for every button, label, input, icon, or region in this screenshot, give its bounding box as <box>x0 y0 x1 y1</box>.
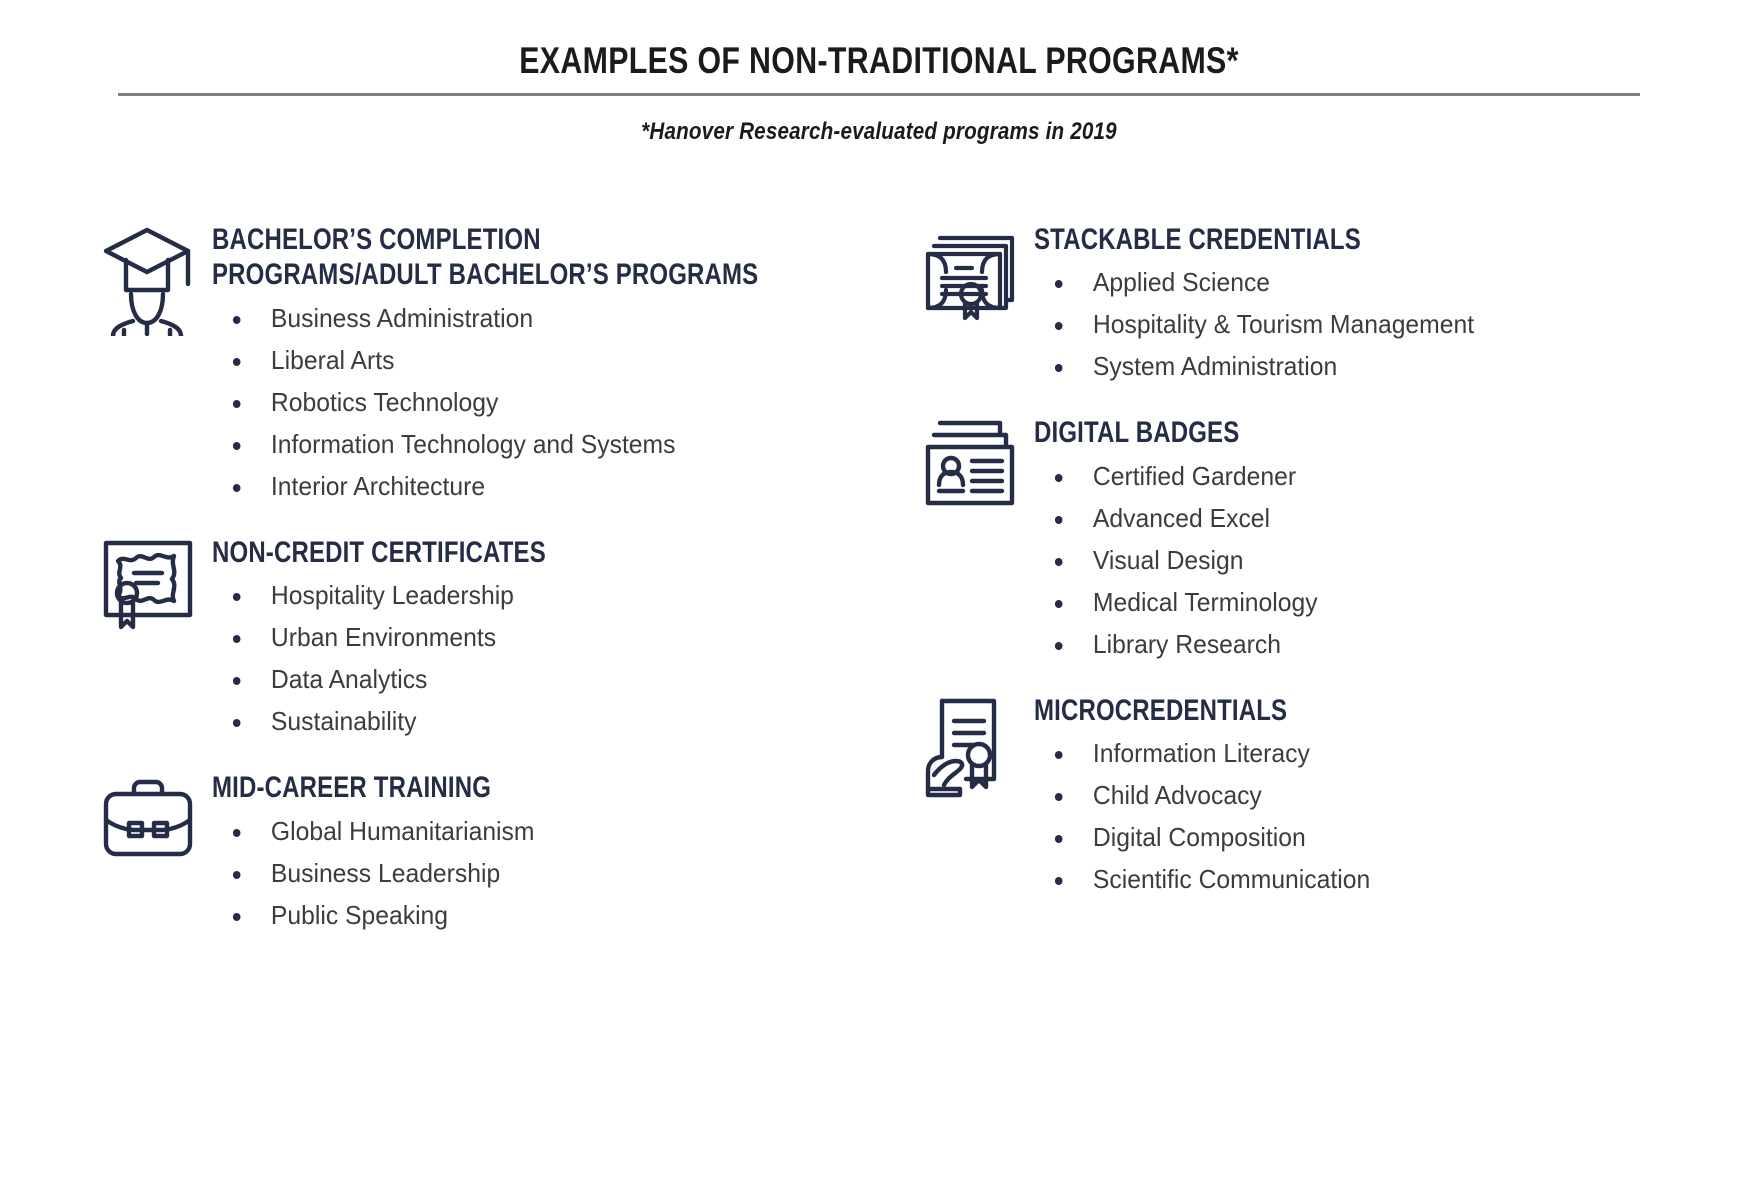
list-item: Applied Science <box>1034 261 1726 303</box>
section-body: MICROCREDENTIALS Information Literacy Ch… <box>1034 693 1762 900</box>
id-badge-icon <box>922 415 1034 509</box>
section-mid-career-training: MID-CAREER TRAINING Global Humanitariani… <box>100 770 860 935</box>
section-heading-line1: BACHELOR’S COMPLETION <box>212 222 758 257</box>
section-digital-badges: DIGITAL BADGES Certified Gardener Advanc… <box>922 415 1762 664</box>
program-list: Information Literacy Child Advocacy Digi… <box>1034 732 1762 900</box>
list-item: Certified Gardener <box>1034 455 1726 497</box>
section-heading: STACKABLE CREDENTIALS <box>1034 222 1616 257</box>
section-heading-line1: DIGITAL BADGES <box>1034 415 1616 450</box>
section-heading-line1: STACKABLE CREDENTIALS <box>1034 222 1616 257</box>
graduate-cap-icon <box>100 222 212 336</box>
infographic-page: EXAMPLES OF NON-TRADITIONAL PROGRAMS* *H… <box>0 0 1762 1180</box>
page-header: EXAMPLES OF NON-TRADITIONAL PROGRAMS* *H… <box>118 40 1640 146</box>
list-item: Information Literacy <box>1034 732 1726 774</box>
section-body: NON-CREDIT CERTIFICATES Hospitality Lead… <box>212 535 860 742</box>
section-heading: MID-CAREER TRAINING <box>212 770 730 805</box>
list-item: Library Research <box>1034 623 1726 665</box>
list-item: Scientific Communication <box>1034 858 1726 900</box>
left-column: BACHELOR’S COMPLETION PROGRAMS/ADULT BAC… <box>0 222 860 936</box>
page-subtitle: *Hanover Research-evaluated programs in … <box>225 118 1534 146</box>
list-item: Advanced Excel <box>1034 497 1726 539</box>
stacked-certificates-icon <box>922 222 1034 324</box>
section-heading: MICROCREDENTIALS <box>1034 693 1616 728</box>
list-item: Digital Composition <box>1034 816 1726 858</box>
list-item: Child Advocacy <box>1034 774 1726 816</box>
list-item: Business Administration <box>212 297 861 339</box>
list-item: Liberal Arts <box>212 339 861 381</box>
section-heading: NON-CREDIT CERTIFICATES <box>212 535 730 570</box>
framed-certificate-icon <box>100 535 212 633</box>
list-item: Interior Architecture <box>212 465 861 507</box>
list-item: Hospitality Leadership <box>212 574 828 616</box>
page-title: EXAMPLES OF NON-TRADITIONAL PROGRAMS* <box>255 40 1503 81</box>
list-item: Robotics Technology <box>212 381 861 423</box>
briefcase-icon <box>100 770 212 858</box>
list-item: Sustainability <box>212 700 828 742</box>
section-body: STACKABLE CREDENTIALS Applied Science Ho… <box>1034 222 1762 387</box>
right-column: STACKABLE CREDENTIALS Applied Science Ho… <box>860 222 1762 936</box>
section-body: BACHELOR’S COMPLETION PROGRAMS/ADULT BAC… <box>212 222 895 507</box>
header-divider <box>118 93 1640 96</box>
list-item: Medical Terminology <box>1034 581 1726 623</box>
list-item: Data Analytics <box>212 658 828 700</box>
section-non-credit-certificates: NON-CREDIT CERTIFICATES Hospitality Lead… <box>100 535 860 742</box>
program-list: Global Humanitarianism Business Leadersh… <box>212 810 860 936</box>
list-item: Urban Environments <box>212 616 828 658</box>
list-item: Information Technology and Systems <box>212 423 861 465</box>
list-item: Global Humanitarianism <box>212 810 828 852</box>
hand-holding-certificate-icon <box>922 693 1034 799</box>
section-heading: BACHELOR’S COMPLETION PROGRAMS/ADULT BAC… <box>212 222 758 293</box>
section-heading-line1: MICROCREDENTIALS <box>1034 693 1616 728</box>
content-columns: BACHELOR’S COMPLETION PROGRAMS/ADULT BAC… <box>0 222 1762 936</box>
section-heading: DIGITAL BADGES <box>1034 415 1616 450</box>
section-body: MID-CAREER TRAINING Global Humanitariani… <box>212 770 860 935</box>
program-list: Hospitality Leadership Urban Environment… <box>212 574 860 742</box>
section-body: DIGITAL BADGES Certified Gardener Advanc… <box>1034 415 1762 664</box>
section-bachelors-completion: BACHELOR’S COMPLETION PROGRAMS/ADULT BAC… <box>100 222 860 507</box>
program-list: Business Administration Liberal Arts Rob… <box>212 297 895 507</box>
list-item: Visual Design <box>1034 539 1726 581</box>
list-item: System Administration <box>1034 345 1726 387</box>
section-heading-line2: PROGRAMS/ADULT BACHELOR’S PROGRAMS <box>212 257 758 292</box>
list-item: Public Speaking <box>212 894 828 936</box>
program-list: Applied Science Hospitality & Tourism Ma… <box>1034 261 1762 387</box>
program-list: Certified Gardener Advanced Excel Visual… <box>1034 455 1762 665</box>
section-heading-line1: NON-CREDIT CERTIFICATES <box>212 535 730 570</box>
list-item: Hospitality & Tourism Management <box>1034 303 1726 345</box>
list-item: Business Leadership <box>212 852 828 894</box>
section-microcredentials: MICROCREDENTIALS Information Literacy Ch… <box>922 693 1762 900</box>
section-heading-line1: MID-CAREER TRAINING <box>212 770 730 805</box>
section-stackable-credentials: STACKABLE CREDENTIALS Applied Science Ho… <box>922 222 1762 387</box>
